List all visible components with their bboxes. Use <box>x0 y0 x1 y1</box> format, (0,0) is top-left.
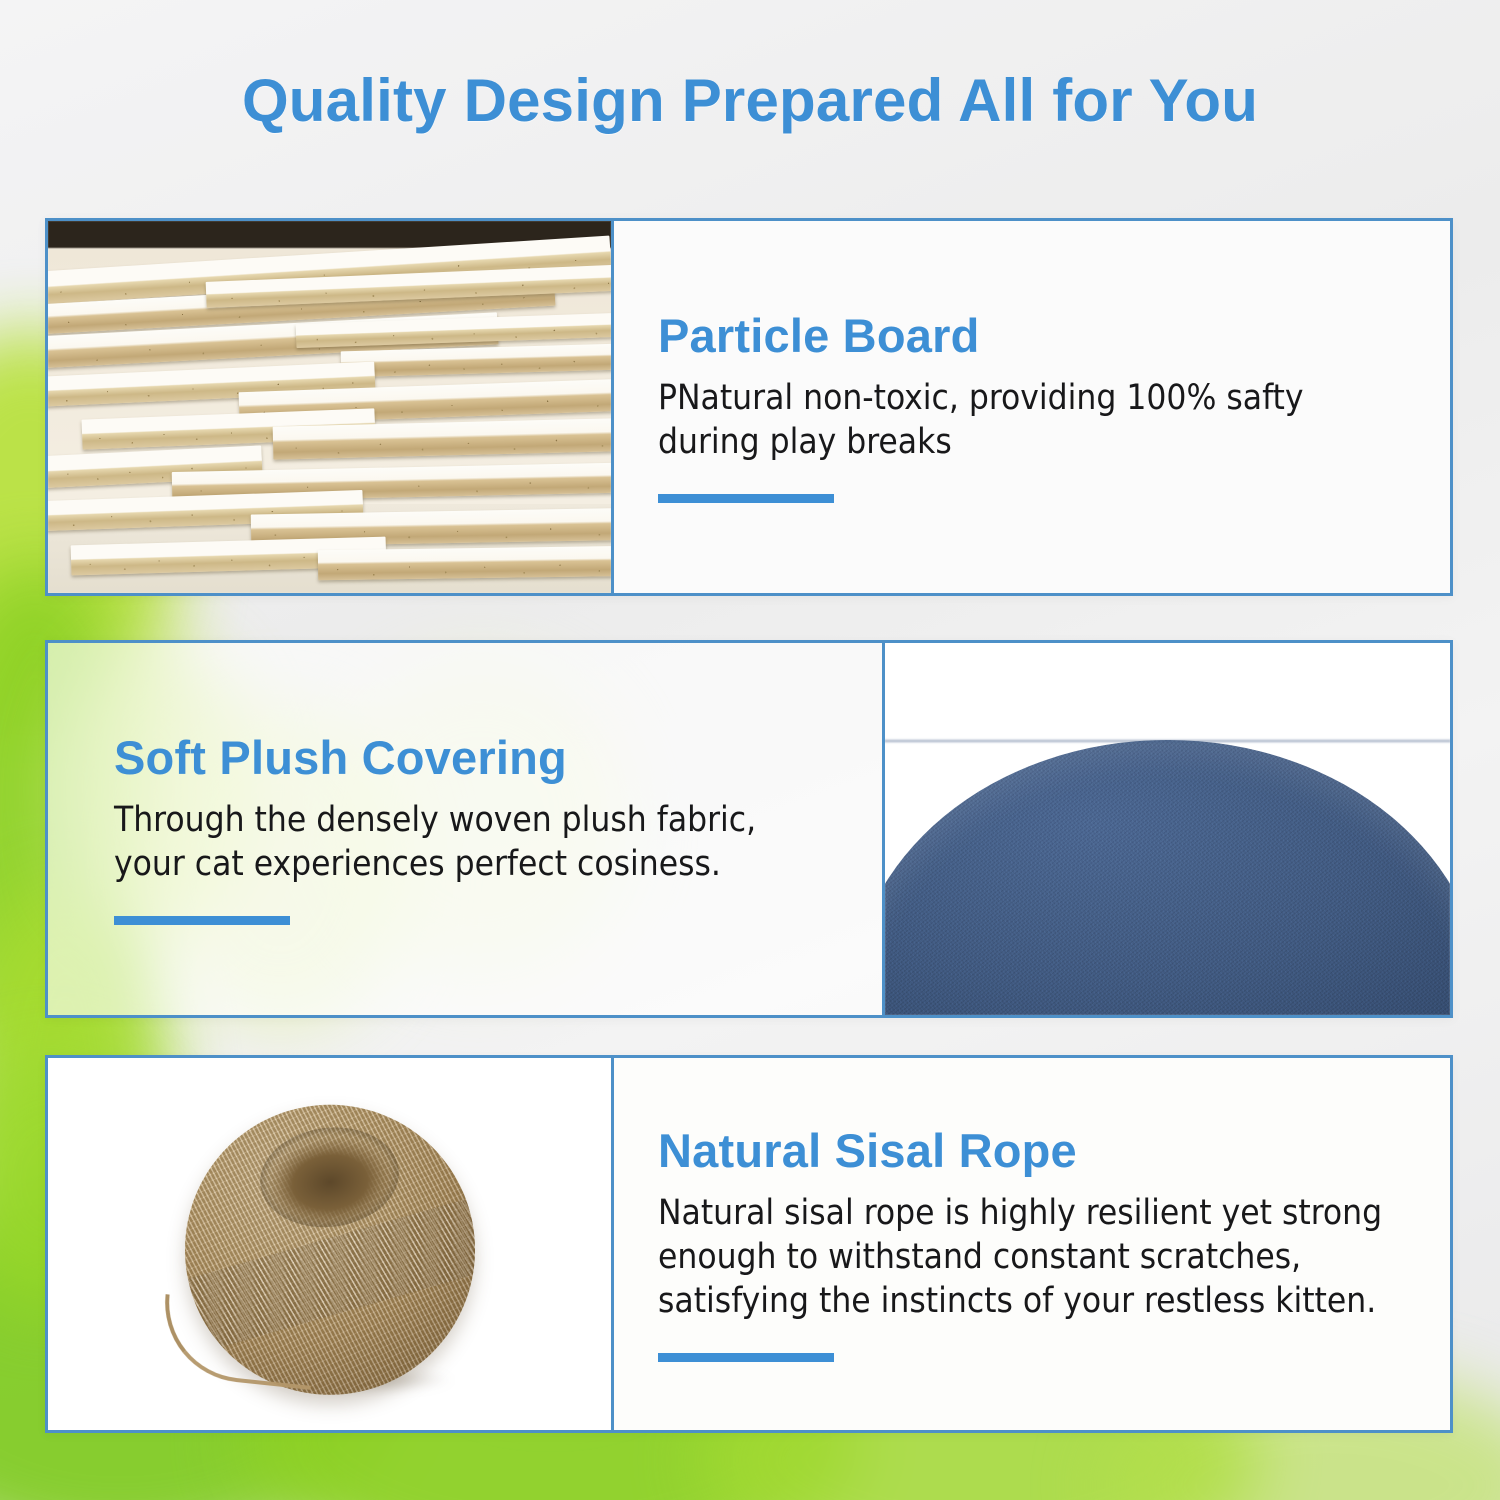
accent-bar <box>114 916 290 925</box>
header: Quality Design Prepared All for You <box>0 0 1500 200</box>
card-title: Soft Plush Covering <box>114 733 852 782</box>
feature-card-particle-board: Particle Board PNatural non-toxic, provi… <box>45 218 1453 596</box>
feature-card-natural-sisal-rope: Natural Sisal Rope Natural sisal rope is… <box>45 1055 1453 1433</box>
card-body: Soft Plush Covering Through the densely … <box>48 643 882 1015</box>
card-title: Natural Sisal Rope <box>658 1126 1412 1175</box>
accent-bar <box>658 1353 834 1362</box>
navy-plush-fabric-photo <box>885 643 1450 1015</box>
card-description: Through the densely woven plush fabric, … <box>114 798 814 886</box>
card-description: Natural sisal rope is highly resilient y… <box>658 1191 1412 1323</box>
card-title: Particle Board <box>658 311 1412 360</box>
card-description: PNatural non-toxic, providing 100% safty… <box>658 376 1412 464</box>
sisal-rope-ball-photo <box>48 1058 611 1430</box>
page-title: Quality Design Prepared All for You <box>242 66 1258 135</box>
particle-board-stack-photo <box>48 221 611 593</box>
feature-card-soft-plush-covering: Soft Plush Covering Through the densely … <box>45 640 1453 1018</box>
card-body: Particle Board PNatural non-toxic, provi… <box>614 221 1450 593</box>
card-body: Natural Sisal Rope Natural sisal rope is… <box>614 1058 1450 1430</box>
infographic-poster: Quality Design Prepared All for You <box>0 0 1500 1500</box>
accent-bar <box>658 494 834 503</box>
